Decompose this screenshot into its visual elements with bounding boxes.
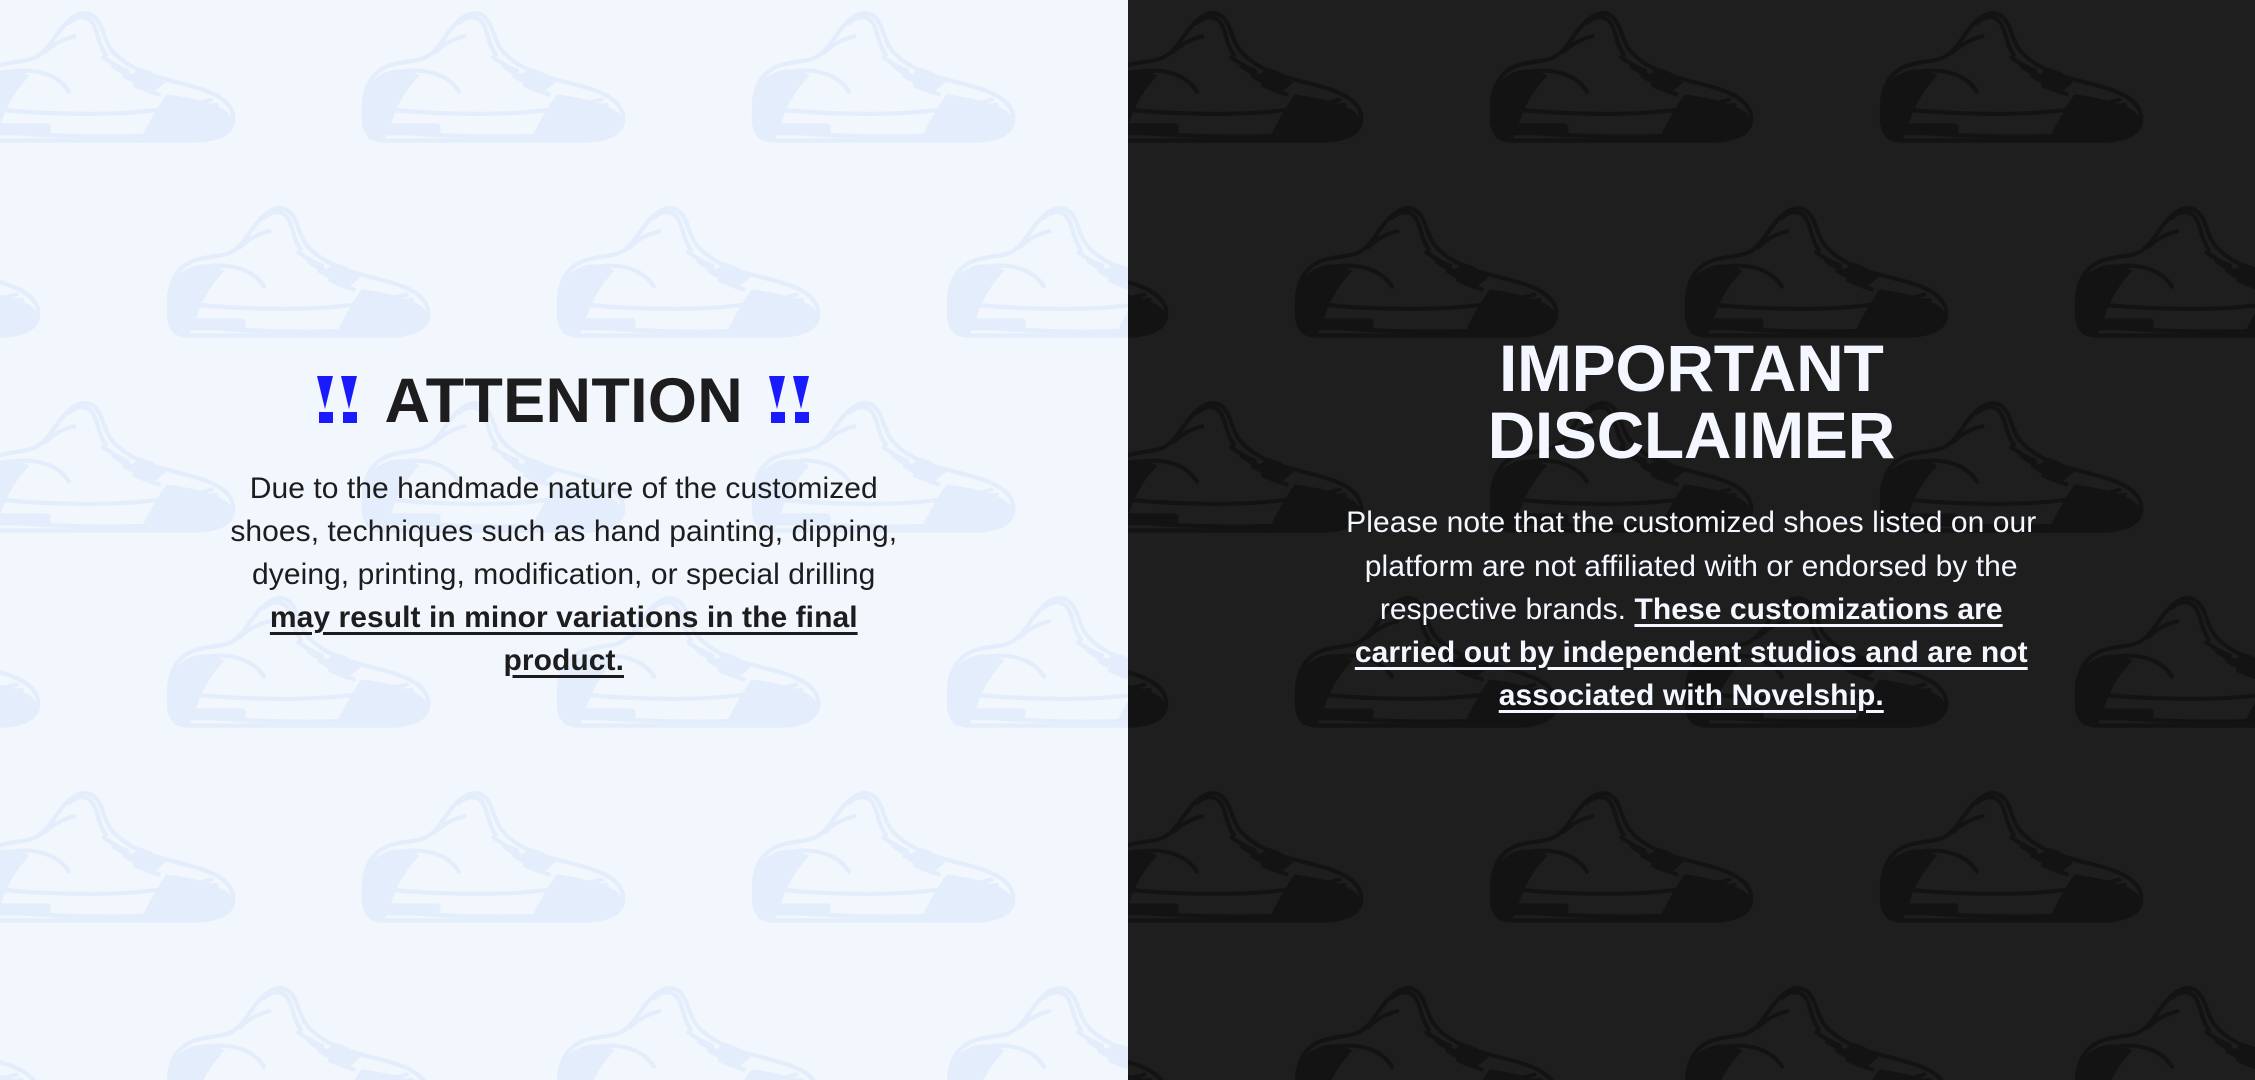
attention-body: Due to the handmade nature of the custom… [219,467,909,683]
disclaimer-body: Please note that the customized shoes li… [1341,501,2041,717]
double-exclamation-icon-left [317,376,358,423]
disclaimer-banner: ATTENTION Due to the handmade nature of … [0,0,2255,1080]
attention-body-emphasis: may result in minor variations in the fi… [270,601,858,677]
attention-content: ATTENTION Due to the handmade nature of … [0,370,1128,683]
attention-body-normal: Due to the handmade nature of the custom… [230,472,897,591]
disclaimer-panel: IMPORTANT DISCLAIMER Please note that th… [1128,0,2255,1080]
disclaimer-content: IMPORTANT DISCLAIMER Please note that th… [1128,335,2255,718]
attention-heading: ATTENTION [60,370,1068,433]
double-exclamation-icon-right [769,376,810,423]
attention-panel: ATTENTION Due to the handmade nature of … [0,0,1128,1080]
attention-heading-text: ATTENTION [384,370,743,433]
disclaimer-heading: IMPORTANT DISCLAIMER [1188,335,2196,470]
disclaimer-heading-line2: DISCLAIMER [1188,402,2196,469]
disclaimer-heading-line1: IMPORTANT [1188,335,2196,402]
